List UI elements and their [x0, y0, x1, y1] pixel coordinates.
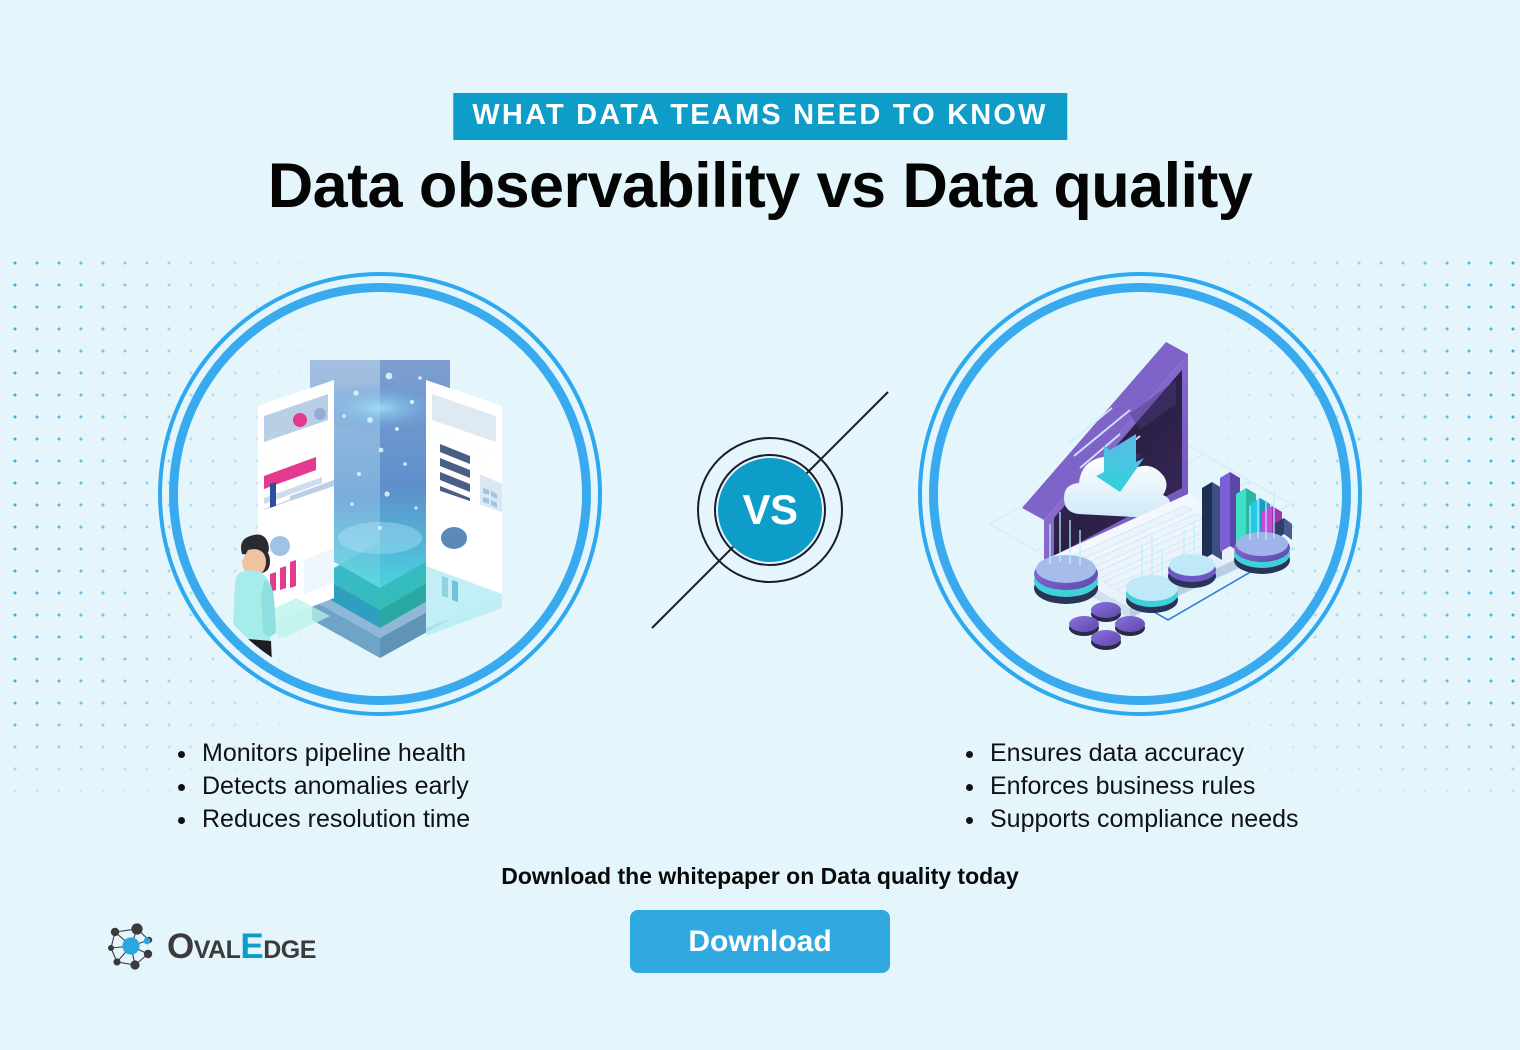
download-button[interactable]: Download — [630, 910, 890, 973]
logo-text-highlight: E — [240, 927, 263, 966]
laptop-cloud-illustration — [944, 298, 1336, 690]
network-nodes-icon — [105, 920, 157, 972]
logo-text-part2: dge — [263, 927, 316, 966]
list-item: Monitors pipeline health — [198, 737, 470, 770]
eyebrow-badge: WHAT DATA TEAMS NEED TO KNOW — [453, 93, 1067, 140]
brand-logo[interactable]: OvalEdge — [105, 920, 316, 972]
list-item: Enforces business rules — [986, 770, 1299, 803]
page-title: Data observability vs Data quality — [0, 152, 1520, 221]
list-item: Detects anomalies early — [198, 770, 470, 803]
vs-badge: VS — [697, 437, 843, 583]
list-item: Reduces resolution time — [198, 803, 470, 836]
left-illustration-circle — [158, 272, 602, 716]
list-item: Supports compliance needs — [986, 803, 1299, 836]
vs-label: VS — [742, 489, 797, 531]
logo-wordmark: OvalEdge — [167, 929, 316, 964]
right-bullet-list: Ensures data accuracy Enforces business … — [961, 737, 1299, 836]
logo-text-part1: Oval — [167, 927, 240, 966]
list-item: Ensures data accuracy — [986, 737, 1299, 770]
data-tower-illustration — [184, 298, 576, 690]
cta-headline: Download the whitepaper on Data quality … — [0, 863, 1520, 890]
vs-core: VS — [718, 458, 822, 562]
right-illustration-circle — [918, 272, 1362, 716]
left-bullet-list: Monitors pipeline health Detects anomali… — [173, 737, 470, 836]
